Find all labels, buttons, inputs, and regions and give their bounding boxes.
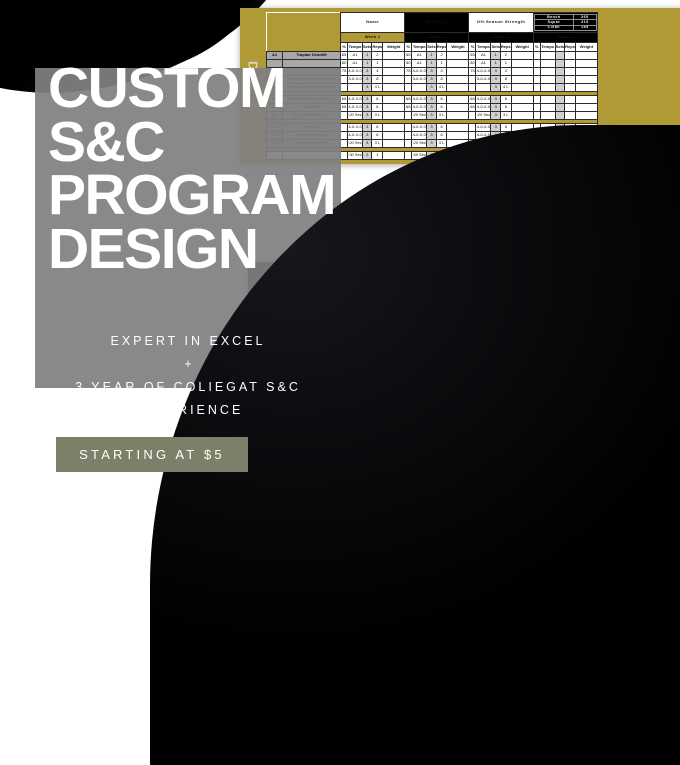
cell-w1-percent[interactable]: 65 <box>341 52 348 60</box>
cell-w2-percent[interactable] <box>405 84 412 92</box>
cell-w2-tempo[interactable]: 4-0-X-0 <box>412 132 427 140</box>
cell-w3-tempo[interactable]: A1 <box>476 60 491 68</box>
cell-w4-sets[interactable] <box>555 76 564 84</box>
starting-price-button[interactable]: STARTING AT $5 <box>56 437 248 472</box>
page-title-line-2: S&C <box>48 116 388 170</box>
cell-w2-percent[interactable]: 75 <box>405 68 412 76</box>
cell-w4-reps[interactable] <box>565 104 576 112</box>
cell-w2-tempo[interactable]: A1 <box>412 60 427 68</box>
cell-w4-sets[interactable] <box>555 52 564 60</box>
column-header-weight: Weight <box>447 43 469 52</box>
cell-w4-weight[interactable] <box>575 104 597 112</box>
banner-week-range: Week 1-4 <box>405 13 469 33</box>
cell-w4-weight[interactable] <box>575 84 597 92</box>
cell-w2-weight[interactable] <box>447 60 469 68</box>
cell-w2-weight[interactable] <box>447 96 469 104</box>
page-title: CUSTOMS&CPROGRAMDESIGN <box>48 62 388 276</box>
cell-w3-sets[interactable]: 3 <box>491 84 500 92</box>
cell-w3-percent[interactable] <box>469 84 476 92</box>
column-header-percent: % <box>341 43 348 52</box>
cell-w4-reps[interactable] <box>565 96 576 104</box>
cell-w4-weight[interactable] <box>575 76 597 84</box>
cell-w3-percent[interactable] <box>469 112 476 120</box>
cell-w2-percent[interactable] <box>405 140 412 148</box>
cell-w4-reps[interactable] <box>565 60 576 68</box>
cell-w2-percent[interactable]: 65 <box>405 104 412 112</box>
cell-w2-weight[interactable] <box>447 68 469 76</box>
cell-w4-tempo[interactable] <box>540 60 555 68</box>
banner-name: Name <box>341 13 405 33</box>
cell-w4-weight[interactable] <box>575 96 597 104</box>
week-header-1: Week 1 <box>341 33 405 43</box>
week-header-2: Week 2 <box>405 33 469 43</box>
cell-w3-reps[interactable]: 1 <box>500 60 511 68</box>
cell-w4-percent[interactable] <box>533 84 540 92</box>
page-title-line-1: CUSTOM <box>48 62 388 116</box>
cell-w2-reps[interactable]: 6 <box>436 124 447 132</box>
cell-w4-weight[interactable] <box>575 52 597 60</box>
cell-w1-tempo[interactable]: A1 <box>348 52 363 60</box>
cell-w4-percent[interactable] <box>533 104 540 112</box>
cell-w3-reps[interactable]: 8 <box>500 76 511 84</box>
cell-w4-reps[interactable] <box>565 68 576 76</box>
cell-w2-sets[interactable]: 3 <box>427 68 436 76</box>
page-title-line-3: PROGRAM <box>48 169 388 223</box>
cell-w4-percent[interactable] <box>533 76 540 84</box>
cell-w3-weight[interactable] <box>511 68 533 76</box>
banner-program-name: Off-Season Strength <box>469 13 533 33</box>
cell-w2-weight[interactable] <box>447 76 469 84</box>
cell-w4-percent[interactable] <box>533 68 540 76</box>
cell-w2-tempo[interactable]: A1 <box>412 52 427 60</box>
cell-w4-tempo[interactable] <box>540 68 555 76</box>
page-title-line-4: DESIGN <box>48 223 388 277</box>
cell-w2-weight[interactable] <box>447 124 469 132</box>
cell-w3-sets[interactable]: 3 <box>491 104 500 112</box>
column-header-percent: % <box>405 43 412 52</box>
cell-w3-tempo[interactable]: 4-0-X-0 <box>476 124 491 132</box>
cell-w2-reps[interactable]: 6 <box>436 104 447 112</box>
cell-w3-weight[interactable] <box>511 60 533 68</box>
cell-w3-reps[interactable]: 2 <box>500 52 511 60</box>
column-header-sets: Sets <box>427 43 436 52</box>
cell-w3-weight[interactable] <box>511 104 533 112</box>
column-header-weight: Weight <box>575 43 597 52</box>
promo-subtext-line-2: 3 YEAR OF COLIEGAT S&C <box>35 376 341 399</box>
cell-w2-sets[interactable]: 1 <box>427 52 436 60</box>
cell-w4-sets[interactable] <box>555 104 564 112</box>
cell-w3-percent[interactable]: 65 <box>469 52 476 60</box>
banner-spacer <box>267 13 341 33</box>
cell-w2-tempo[interactable]: :20 Sec <box>412 112 427 120</box>
column-header-percent: % <box>533 43 540 52</box>
table-row[interactable]: A1Trapbar Deadlift65A11265A11265A112 <box>267 52 598 60</box>
column-header-reps: Reps <box>372 43 383 52</box>
column-header-reps: Reps <box>500 43 511 52</box>
cell-w2-percent[interactable]: 65 <box>405 52 412 60</box>
cell-w3-percent[interactable]: 80 <box>469 60 476 68</box>
cell-w4-reps[interactable] <box>565 76 576 84</box>
cell-w3-tempo[interactable]: 3-0-X-0 <box>476 76 491 84</box>
cell-w4-tempo[interactable] <box>540 104 555 112</box>
cell-w4-weight[interactable] <box>575 68 597 76</box>
cell-w3-sets[interactable]: 3 <box>491 76 500 84</box>
banner-row: NameWeek 1-4Off-Season StrengthBench265S… <box>267 13 598 33</box>
week-header-4: Week 4 <box>533 33 597 43</box>
cell-w3-reps[interactable]: 4 <box>500 68 511 76</box>
cell-w3-weight[interactable] <box>511 76 533 84</box>
cell-w2-tempo[interactable]: :20 Sec <box>412 140 427 148</box>
cell-w4-weight[interactable] <box>575 112 597 120</box>
cell-w2-weight[interactable] <box>447 104 469 112</box>
promo-subtext-plus: + <box>35 353 341 376</box>
cell-w4-tempo[interactable] <box>540 76 555 84</box>
column-header-percent: % <box>469 43 476 52</box>
cell-w3-percent[interactable] <box>469 124 476 132</box>
cell-w4-sets[interactable] <box>555 60 564 68</box>
cell-w2-sets[interactable]: 3 <box>427 96 436 104</box>
cell-w2-percent[interactable] <box>405 152 412 160</box>
cell-w2-reps[interactable]: 2 <box>436 52 447 60</box>
cell-w3-weight[interactable] <box>511 112 533 120</box>
cell-w2-weight[interactable] <box>447 52 469 60</box>
promo-subtext: EXPERT IN EXCEL + 3 YEAR OF COLIEGAT S&C… <box>35 330 341 423</box>
max-lift-name: Clean <box>534 25 573 30</box>
column-header-sets: Sets <box>491 43 500 52</box>
cell-w3-weight[interactable] <box>511 84 533 92</box>
cell-w4-percent[interactable] <box>533 96 540 104</box>
cell-w2-sets[interactable]: 3 <box>427 112 436 120</box>
cell-w3-percent[interactable]: 65 <box>469 96 476 104</box>
cell-w3-percent[interactable] <box>469 76 476 84</box>
exercise-name: Trapbar Deadlift <box>283 52 341 60</box>
column-header-spacer <box>267 43 341 52</box>
cell-w2-sets[interactable]: 1 <box>427 60 436 68</box>
cell-w4-tempo[interactable] <box>540 84 555 92</box>
cell-w4-sets[interactable] <box>555 112 564 120</box>
week-header-3: Week 3 <box>469 33 533 43</box>
cell-w4-percent[interactable] <box>533 112 540 120</box>
cell-w1-weight[interactable] <box>383 52 405 60</box>
cell-w2-tempo[interactable] <box>412 84 427 92</box>
cell-w2-reps[interactable]: 3 L <box>436 140 447 148</box>
column-header-row: %TempoSetsRepsWeight%TempoSetsRepsWeight… <box>267 43 598 52</box>
cell-w2-percent[interactable] <box>405 132 412 140</box>
cell-w3-percent[interactable]: 65 <box>469 104 476 112</box>
cell-w2-reps[interactable]: 4 L <box>436 84 447 92</box>
week-header-spacer <box>267 33 341 43</box>
cell-w4-tempo[interactable] <box>540 96 555 104</box>
cell-w2-weight[interactable] <box>447 132 469 140</box>
cell-w3-tempo[interactable] <box>476 84 491 92</box>
cell-w3-reps[interactable]: 6 <box>500 104 511 112</box>
cell-w3-percent[interactable]: 75 <box>469 68 476 76</box>
column-header-weight: Weight <box>383 43 405 52</box>
cell-w3-sets[interactable]: 1 <box>491 60 500 68</box>
cell-w2-sets[interactable]: 3 <box>427 124 436 132</box>
cell-w4-sets[interactable] <box>555 96 564 104</box>
column-header-tempo: Tempo <box>412 43 427 52</box>
column-header-tempo: Tempo <box>540 43 555 52</box>
cell-w3-reps[interactable]: 4 L <box>500 84 511 92</box>
promo-subtext-line-3: EXPERIENCE <box>35 399 341 422</box>
cell-w3-sets[interactable]: 3 <box>491 124 500 132</box>
promo-subtext-line-1: EXPERT IN EXCEL <box>35 330 341 353</box>
cell-w3-reps[interactable]: 6 <box>500 96 511 104</box>
cell-w3-sets[interactable]: 3 <box>491 96 500 104</box>
cell-w3-sets[interactable]: 3 <box>491 112 500 120</box>
cell-w2-reps[interactable]: 3 L <box>436 112 447 120</box>
cell-w2-tempo[interactable]: 4-0-X-0 <box>412 124 427 132</box>
cell-w2-weight[interactable] <box>447 84 469 92</box>
cell-w4-tempo[interactable] <box>540 112 555 120</box>
cell-w2-sets[interactable]: 3 <box>427 104 436 112</box>
max-lift-value: 185 <box>573 25 596 30</box>
cell-w3-reps[interactable]: 6 <box>500 124 511 132</box>
column-header-sets: Sets <box>555 43 564 52</box>
cell-w4-reps[interactable] <box>565 84 576 92</box>
cell-w4-weight[interactable] <box>575 60 597 68</box>
cell-w1-reps[interactable]: 2 <box>372 52 383 60</box>
cell-w2-reps[interactable]: 4 <box>436 68 447 76</box>
column-header-sets: Sets <box>363 43 372 52</box>
cell-w3-tempo[interactable]: 4-0-X-0 <box>476 96 491 104</box>
column-header-tempo: Tempo <box>348 43 363 52</box>
cell-w3-tempo[interactable]: 4-0-X-0 <box>476 68 491 76</box>
cell-w2-percent[interactable] <box>405 112 412 120</box>
cell-w4-percent[interactable] <box>533 60 540 68</box>
cell-w2-percent[interactable] <box>405 124 412 132</box>
column-header-reps: Reps <box>565 43 576 52</box>
cell-w3-weight[interactable] <box>511 52 533 60</box>
cell-w1-sets[interactable]: 1 <box>363 52 372 60</box>
cell-w2-sets[interactable]: 3 <box>427 76 436 84</box>
column-header-weight: Weight <box>511 43 533 52</box>
cell-w3-tempo[interactable]: A1 <box>476 52 491 60</box>
cell-w4-reps[interactable] <box>565 112 576 120</box>
cell-w3-tempo[interactable]: 4-0-X-0 <box>476 104 491 112</box>
column-header-reps: Reps <box>436 43 447 52</box>
cell-w4-tempo[interactable] <box>540 52 555 60</box>
cell-w2-reps[interactable]: 8 <box>436 76 447 84</box>
cell-w2-sets[interactable]: 3 <box>427 140 436 148</box>
cell-w2-tempo[interactable]: 3-0-X-0 <box>412 76 427 84</box>
cell-w2-percent[interactable]: 65 <box>405 96 412 104</box>
max-lifts-table: Bench265Squat315Clean185 <box>533 13 597 33</box>
cell-w2-tempo[interactable]: 4-0-X-0 <box>412 96 427 104</box>
cell-w2-reps[interactable]: 6 <box>436 96 447 104</box>
cell-w3-tempo[interactable]: :20 Sec <box>476 112 491 120</box>
cell-w2-sets[interactable]: 3 <box>427 132 436 140</box>
cell-w2-percent[interactable]: 80 <box>405 60 412 68</box>
cell-w3-sets[interactable]: 1 <box>491 52 500 60</box>
cell-w2-sets[interactable]: 3 <box>427 84 436 92</box>
column-header-tempo: Tempo <box>476 43 491 52</box>
cell-w4-sets[interactable] <box>555 84 564 92</box>
cell-w2-reps[interactable]: 1 <box>436 60 447 68</box>
cell-w2-percent[interactable] <box>405 76 412 84</box>
cell-w3-weight[interactable] <box>511 96 533 104</box>
cell-w4-percent[interactable] <box>533 52 540 60</box>
cell-w3-reps[interactable]: 3 L <box>500 112 511 120</box>
week-header-row: Week 1Week 2Week 3Week 4 <box>267 33 598 43</box>
max-lift-row: Clean185 <box>534 25 596 30</box>
cell-w2-tempo[interactable]: 4-0-X-0 <box>412 104 427 112</box>
cell-w4-reps[interactable] <box>565 52 576 60</box>
cell-w4-sets[interactable] <box>555 68 564 76</box>
cell-w2-weight[interactable] <box>447 112 469 120</box>
cell-w3-sets[interactable]: 3 <box>491 68 500 76</box>
cell-w2-reps[interactable]: 6 <box>436 132 447 140</box>
cell-w2-tempo[interactable]: 4-0-X-0 <box>412 68 427 76</box>
